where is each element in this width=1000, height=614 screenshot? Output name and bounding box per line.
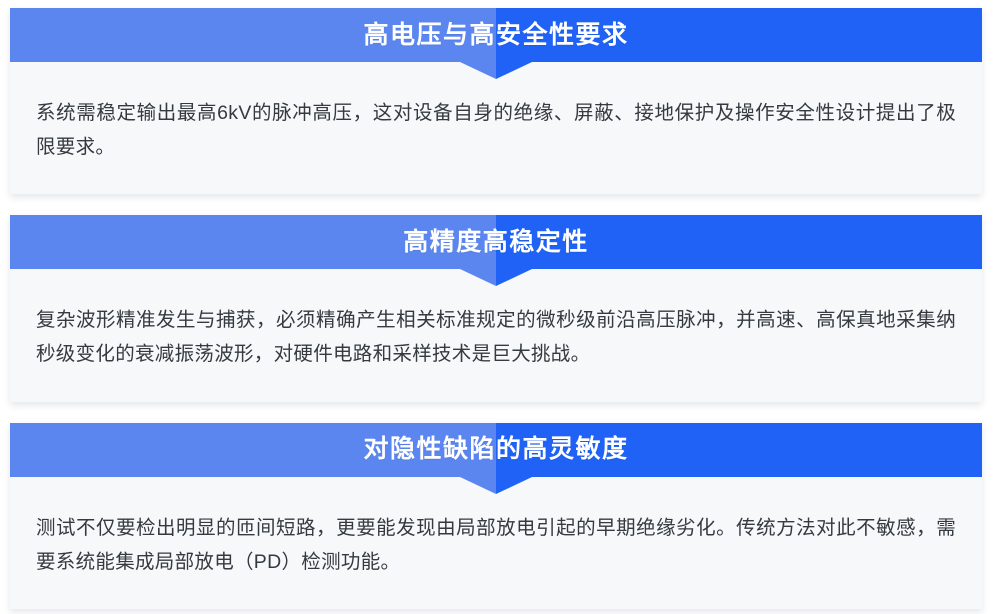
requirement-card: 高精度高稳定性 复杂波形精准发生与捕获，必须精确产生相关标准规定的微秒级前沿高压… (10, 215, 982, 401)
card-body: 系统需稳定输出最高6kV的脉冲高压，这对设备自身的绝缘、屏蔽、接地保护及操作安全… (10, 62, 982, 194)
card-title: 对隐性缺陷的高灵敏度 (363, 437, 628, 462)
card-body-text: 复杂波形精准发生与捕获，必须精确产生相关标准规定的微秒级前沿高压脉冲，并高速、高… (36, 303, 956, 371)
card-body-text: 测试不仅要检出明显的匝间短路，更要能发现由局部放电引起的早期绝缘劣化。传统方法对… (36, 511, 956, 579)
card-title: 高精度高稳定性 (403, 230, 589, 255)
card-header-banner: 对隐性缺陷的高灵敏度 (10, 423, 982, 477)
card-body: 测试不仅要检出明显的匝间短路，更要能发现由局部放电引起的早期绝缘劣化。传统方法对… (10, 477, 982, 609)
requirement-card: 高电压与高安全性要求 系统需稳定输出最高6kV的脉冲高压，这对设备自身的绝缘、屏… (10, 8, 982, 194)
card-header-banner: 高精度高稳定性 (10, 215, 982, 269)
requirement-card: 对隐性缺陷的高灵敏度 测试不仅要检出明显的匝间短路，更要能发现由局部放电引起的早… (10, 423, 982, 609)
card-body-text: 系统需稳定输出最高6kV的脉冲高压，这对设备自身的绝缘、屏蔽、接地保护及操作安全… (36, 96, 956, 164)
card-title: 高电压与高安全性要求 (363, 23, 628, 48)
card-body: 复杂波形精准发生与捕获，必须精确产生相关标准规定的微秒级前沿高压脉冲，并高速、高… (10, 269, 982, 401)
requirement-card-stack: 高电压与高安全性要求 系统需稳定输出最高6kV的脉冲高压，这对设备自身的绝缘、屏… (0, 0, 1000, 609)
card-header-banner: 高电压与高安全性要求 (10, 8, 982, 62)
